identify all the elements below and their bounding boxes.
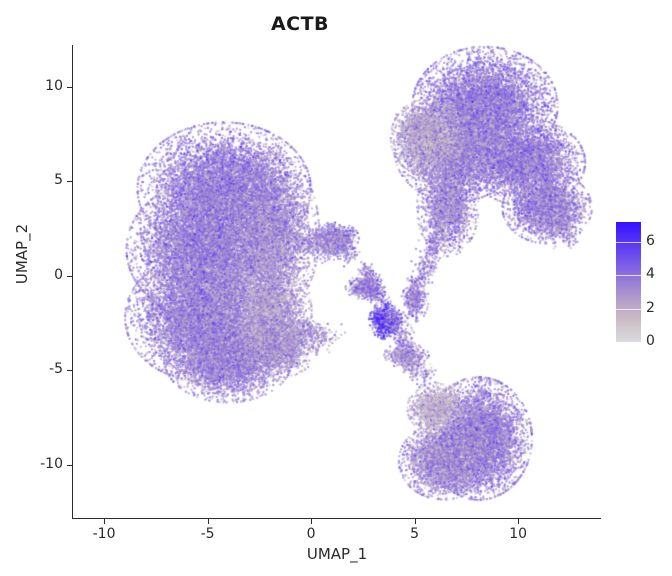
y-axis-label: UMAP_2 xyxy=(13,174,31,334)
colorbar-tick-mark xyxy=(616,242,641,243)
x-axis-line xyxy=(72,518,601,519)
y-tick-label: 10 xyxy=(7,78,63,94)
colorbar-gradient xyxy=(616,222,641,342)
y-tick-mark xyxy=(67,465,72,466)
umap-feature-plot: ACTB -10-50510 -10-50510 UMAP_1 UMAP_2 0… xyxy=(0,0,672,576)
y-tick-mark xyxy=(67,87,72,88)
x-tick-mark xyxy=(311,519,312,524)
x-tick-mark xyxy=(415,519,416,524)
colorbar-tick-mark xyxy=(616,309,641,310)
x-tick-label: -10 xyxy=(74,526,134,542)
x-tick-mark xyxy=(518,519,519,524)
x-axis-label: UMAP_1 xyxy=(73,545,601,563)
colorbar-tick-mark xyxy=(616,275,641,276)
y-tick-label: -5 xyxy=(7,361,63,377)
colorbar-tick-label: 0 xyxy=(646,333,672,349)
colorbar-tick-label: 2 xyxy=(646,300,672,316)
x-tick-label: 0 xyxy=(281,526,341,542)
colorbar-tick-label: 4 xyxy=(646,266,672,282)
colorbar-tick-label: 6 xyxy=(646,233,672,249)
y-tick-label: -10 xyxy=(7,456,63,472)
colorbar-tick-mark xyxy=(616,342,641,343)
x-tick-label: -5 xyxy=(178,526,238,542)
y-tick-mark xyxy=(67,370,72,371)
page-title: ACTB xyxy=(0,13,600,35)
x-tick-mark xyxy=(104,519,105,524)
y-tick-mark xyxy=(67,276,72,277)
y-tick-mark xyxy=(67,181,72,182)
scatter-plot-canvas xyxy=(73,45,601,518)
colorbar-legend: 0246 xyxy=(608,215,672,355)
x-tick-label: 5 xyxy=(385,526,445,542)
x-tick-label: 10 xyxy=(488,526,548,542)
x-tick-mark xyxy=(208,519,209,524)
